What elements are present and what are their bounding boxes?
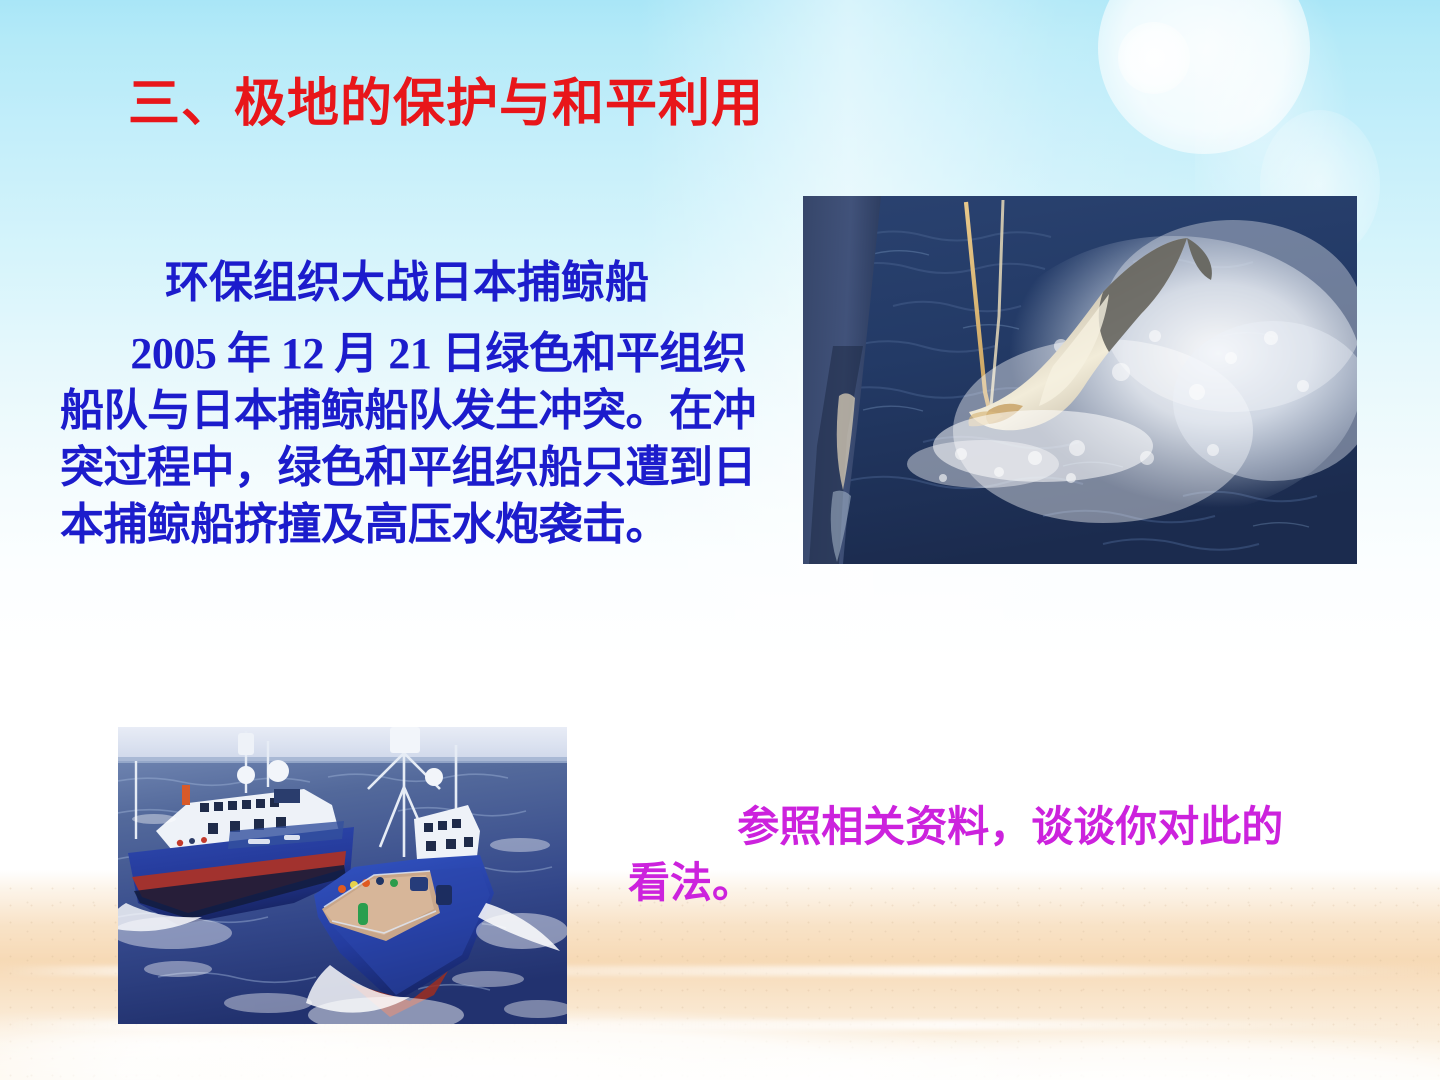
section-heading: 环保组织大战日本捕鲸船 — [62, 258, 752, 307]
discussion-prompt: 参照相关资料，谈谈你对此的看法。 — [628, 800, 1308, 912]
slide-canvas: 三、极地的保护与和平利用 环保组织大战日本捕鲸船 2005 年 12 月 21 … — [0, 0, 1440, 1080]
body-paragraph: 2005 年 12 月 21 日绿色和平组织船队与日本捕鲸船队发生冲突。在冲突过… — [60, 325, 760, 553]
page-title: 三、极地的保护与和平利用 — [128, 76, 764, 133]
whaling-ship-confrontation-photo — [118, 727, 567, 1024]
harpooned-whale-photo — [803, 196, 1357, 564]
prompt-text: 参照相关资料，谈谈你对此的看法。 — [628, 805, 1283, 907]
ships-photo-artwork — [118, 727, 567, 1024]
whale-photo-artwork — [803, 196, 1357, 564]
paragraph-text: 2005 年 12 月 21 日绿色和平组织船队与日本捕鲸船队发生冲突。在冲突过… — [60, 329, 756, 549]
